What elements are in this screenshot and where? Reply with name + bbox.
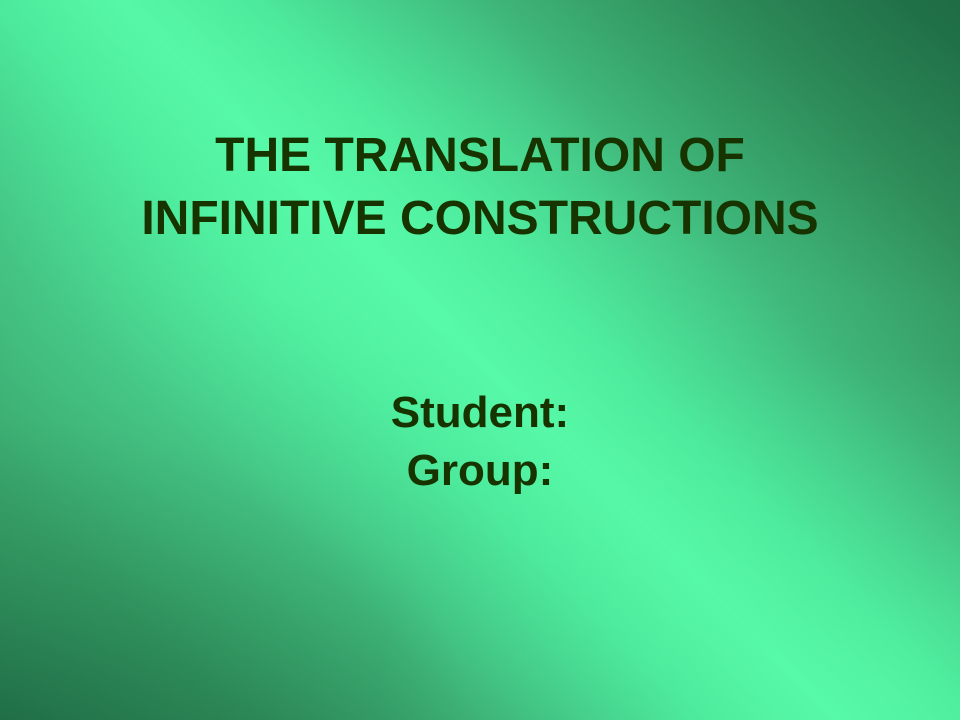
subtitle-group-label: Group: [0,442,960,500]
slide-subtitle: Student: Group: [0,384,960,500]
title-slide: THE TRANSLATION OF INFINITIVE CONSTRUCTI… [0,0,960,720]
slide-title: THE TRANSLATION OF INFINITIVE CONSTRUCTI… [0,124,960,250]
slide-title-line-1: THE TRANSLATION OF [0,124,960,187]
slide-content: THE TRANSLATION OF INFINITIVE CONSTRUCTI… [0,0,960,720]
slide-title-line-2: INFINITIVE CONSTRUCTIONS [0,187,960,250]
subtitle-student-label: Student: [0,384,960,442]
